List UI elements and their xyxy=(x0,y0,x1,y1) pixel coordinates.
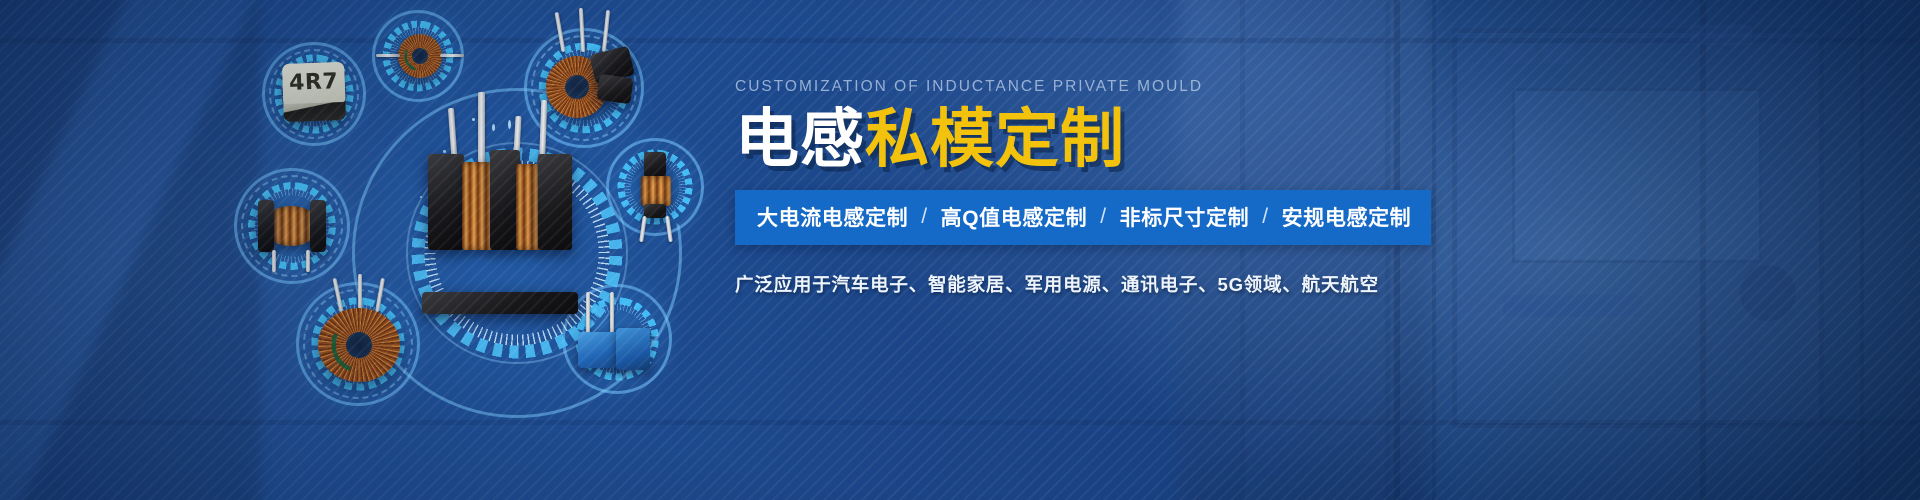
services-bar: 大电流电感定制 / 高Q值电感定制 / 非标尺寸定制 / 安规电感定制 xyxy=(735,190,1431,245)
service-item-4[interactable]: 安规电感定制 xyxy=(1282,202,1412,232)
service-separator: / xyxy=(1262,205,1268,229)
banner-text-block: CUSTOMIZATION OF INDUCTANCE PRIVATE MOUL… xyxy=(735,78,1395,297)
service-separator: / xyxy=(921,205,927,229)
service-item-3[interactable]: 非标尺寸定制 xyxy=(1120,202,1250,232)
application-description: 广泛应用于汽车电子、智能家居、军用电源、通讯电子、5G领域、航天航空 xyxy=(735,271,1395,297)
promo-banner: 4R7 xyxy=(0,0,1920,500)
service-separator: / xyxy=(1100,205,1106,229)
headline-primary: 电感 xyxy=(735,103,865,175)
headline-accent: 私模定制 xyxy=(865,103,1125,175)
page-title: 电感私模定制 xyxy=(735,104,1395,176)
english-tagline: CUSTOMIZATION OF INDUCTANCE PRIVATE MOUL… xyxy=(735,78,1395,96)
service-item-2[interactable]: 高Q值电感定制 xyxy=(941,202,1088,232)
service-item-1[interactable]: 大电流电感定制 xyxy=(757,202,908,232)
